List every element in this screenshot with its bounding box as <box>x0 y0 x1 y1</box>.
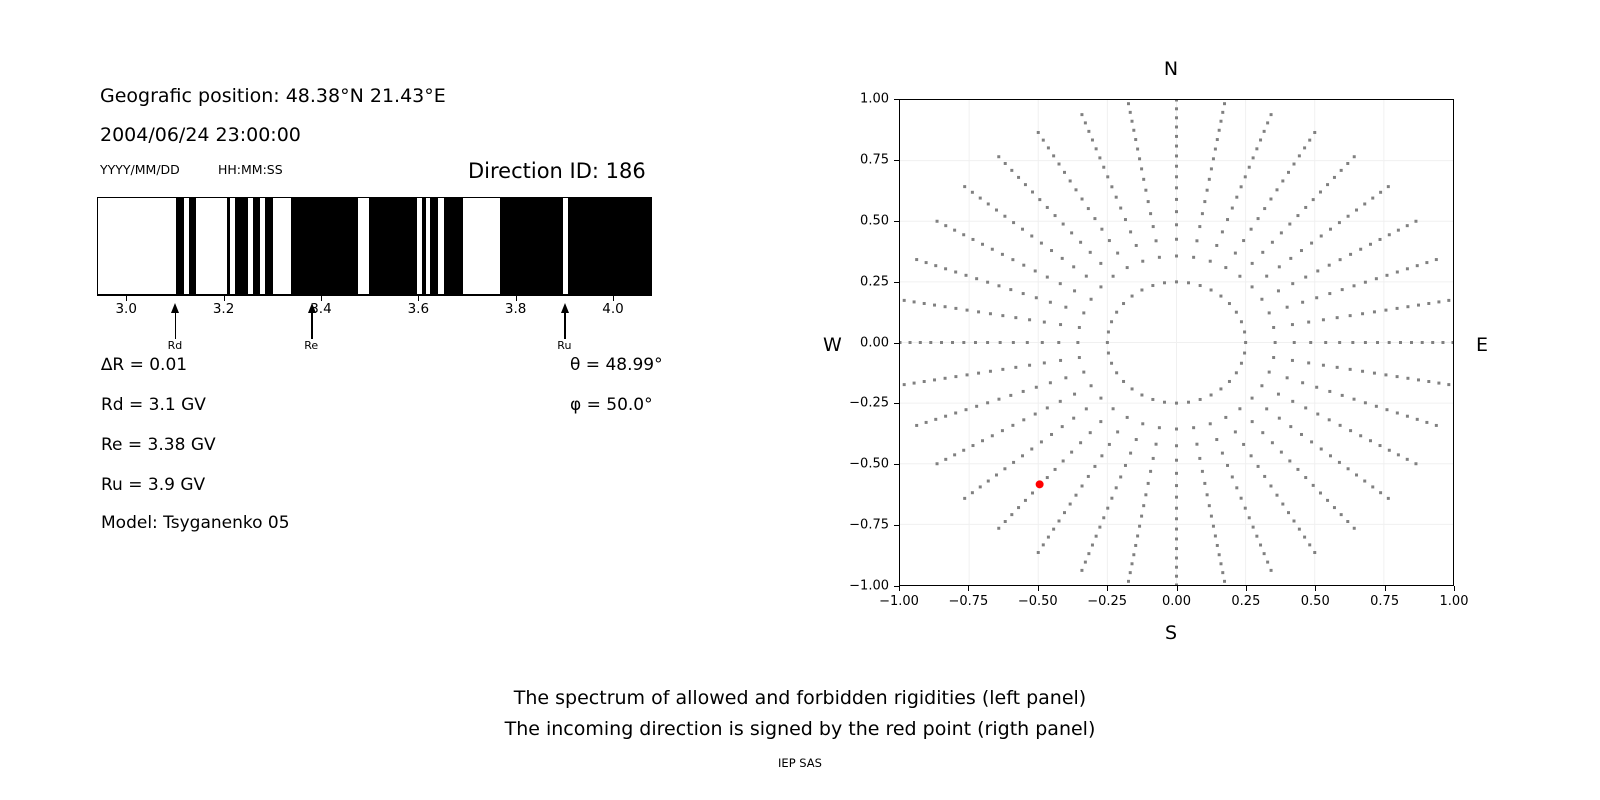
forbidden-band <box>235 198 248 294</box>
y-tick-label: 0.25 <box>831 274 889 289</box>
x-tick <box>1107 586 1108 591</box>
x-tick <box>968 586 969 591</box>
x-tick <box>1385 586 1386 591</box>
x-tick-label: −0.75 <box>948 594 988 609</box>
arrow-shaft <box>564 311 565 339</box>
datetime-label: 2004/06/24 23:00:00 <box>100 124 301 146</box>
rigidity-tick-label: 3.2 <box>213 301 234 317</box>
arrow-shaft <box>311 311 312 339</box>
compass-label-west: W <box>823 334 842 356</box>
y-tick <box>894 99 899 100</box>
param-re: Re = 3.38 GV <box>101 435 216 455</box>
y-tick <box>894 525 899 526</box>
y-tick <box>894 221 899 222</box>
y-tick-label: −0.75 <box>831 518 889 533</box>
param-theta: θ = 48.99° <box>570 355 663 375</box>
y-tick-label: −0.50 <box>831 457 889 472</box>
forbidden-band <box>422 198 426 294</box>
forbidden-band <box>500 198 563 294</box>
x-tick-label: −0.50 <box>1018 594 1058 609</box>
threshold-arrow-label: Ru <box>557 339 571 352</box>
param-model: Model: Tsyganenko 05 <box>101 513 290 533</box>
rigidity-tick-label: 3.6 <box>408 301 429 317</box>
x-tick-label: 0.25 <box>1231 594 1260 609</box>
forbidden-band <box>444 198 463 294</box>
x-tick <box>1038 586 1039 591</box>
param-rd: Rd = 3.1 GV <box>101 395 206 415</box>
selected-direction-point <box>1036 480 1044 488</box>
y-tick-label: 1.00 <box>831 92 889 107</box>
rigidity-tick-label: 3.8 <box>505 301 526 317</box>
x-tick <box>1177 586 1178 591</box>
rigidity-tick-label: 4.0 <box>602 301 623 317</box>
forbidden-band <box>291 198 358 294</box>
time-format-hint: HH:MM:SS <box>218 162 283 177</box>
forbidden-band <box>568 198 652 294</box>
threshold-arrow-label: Rd <box>168 339 183 352</box>
caption-line-2: The incoming direction is signed by the … <box>0 718 1600 740</box>
footer-credit: IEP SAS <box>0 756 1600 770</box>
forbidden-band <box>369 198 418 294</box>
y-tick-label: −1.00 <box>831 579 889 594</box>
direction-map-panel: −1.00−0.75−0.50−0.250.000.250.500.751.00… <box>800 0 1600 660</box>
direction-id-label: Direction ID: 186 <box>468 159 646 183</box>
x-tick <box>1454 586 1455 591</box>
forbidden-band <box>430 198 438 294</box>
rigidity-axis-line <box>97 295 652 296</box>
direction-scatter-svg <box>900 100 1453 585</box>
rigidity-tick-label: 3.0 <box>115 301 136 317</box>
y-tick-label: 0.50 <box>831 213 889 228</box>
x-tick-label: 0.00 <box>1162 594 1191 609</box>
forbidden-band <box>227 198 231 294</box>
x-tick-label: −1.00 <box>879 594 919 609</box>
compass-label-north: N <box>1164 58 1178 80</box>
forbidden-band <box>253 198 260 294</box>
compass-label-south: S <box>1165 622 1177 644</box>
x-tick <box>1246 586 1247 591</box>
date-format-hint: YYYY/MM/DD <box>100 162 180 177</box>
x-tick-label: −0.25 <box>1087 594 1127 609</box>
x-tick-label: 0.75 <box>1370 594 1399 609</box>
param-ru: Ru = 3.9 GV <box>101 475 205 495</box>
x-tick-label: 0.50 <box>1301 594 1330 609</box>
arrow-shaft <box>175 311 176 339</box>
y-tick <box>894 160 899 161</box>
geographic-position-label: Geografic position: 48.38°N 21.43°E <box>100 85 446 107</box>
param-delta-r: ∆R = 0.01 <box>101 355 187 375</box>
param-phi: φ = 50.0° <box>570 395 653 415</box>
y-tick <box>894 464 899 465</box>
caption-line-1: The spectrum of allowed and forbidden ri… <box>0 687 1600 709</box>
compass-label-east: E <box>1476 334 1488 356</box>
x-tick <box>1315 586 1316 591</box>
direction-plot-area <box>899 99 1454 586</box>
forbidden-band <box>176 198 184 294</box>
forbidden-band <box>265 198 273 294</box>
y-tick-label: −0.25 <box>831 396 889 411</box>
x-tick-label: 1.00 <box>1440 594 1469 609</box>
y-tick-label: 0.75 <box>831 152 889 167</box>
y-tick <box>894 403 899 404</box>
plot-gridlines <box>900 100 1453 585</box>
y-tick <box>894 343 899 344</box>
x-tick <box>899 586 900 591</box>
rigidity-spectrum-panel: Geografic position: 48.38°N 21.43°E 2004… <box>0 0 800 660</box>
y-tick <box>894 282 899 283</box>
rigidity-spectrum-bar <box>97 197 652 295</box>
forbidden-band <box>189 198 197 294</box>
threshold-arrow-label: Re <box>304 339 318 352</box>
